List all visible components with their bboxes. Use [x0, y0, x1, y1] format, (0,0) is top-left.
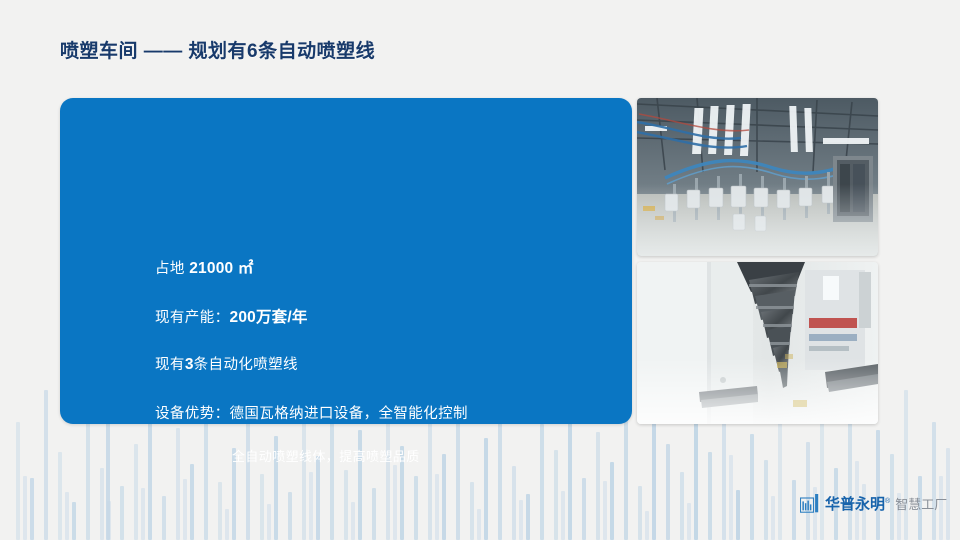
line-3-strong: 3 — [185, 356, 194, 373]
decorative-bar — [645, 511, 649, 540]
slide-root: 喷塑车间 —— 规划有6条自动喷塑线 占地 21000 ㎡ 现有产能：200万套… — [0, 0, 960, 540]
decorative-bar — [694, 418, 698, 540]
decorative-bar — [750, 434, 754, 540]
decorative-bar — [65, 492, 69, 540]
decorative-bar — [932, 422, 936, 540]
decorative-bar — [561, 491, 565, 540]
decorative-bar — [23, 476, 27, 540]
page-title: 喷塑车间 —— 规划有6条自动喷塑线 — [60, 36, 375, 63]
decorative-bar — [540, 424, 544, 540]
decorative-bar — [470, 482, 474, 540]
decorative-bar — [519, 500, 523, 540]
panel-line-capacity: 现有产能：200万套/年 — [155, 305, 308, 327]
decorative-bar — [498, 408, 502, 540]
decorative-bar — [778, 406, 782, 540]
panel-line-existing-lines: 现有3条自动化喷塑线 — [155, 353, 298, 374]
decorative-bar — [393, 465, 397, 540]
decorative-bar — [736, 490, 740, 540]
decorative-bar — [351, 502, 355, 540]
line-1-prefix: 占地 — [155, 261, 189, 277]
decorative-bar — [302, 416, 306, 540]
decorative-bar — [204, 406, 208, 540]
decorative-bar — [666, 444, 670, 540]
paint-line-closeup-illustration — [637, 262, 878, 424]
decorative-bar — [372, 488, 376, 540]
decorative-bar — [526, 494, 530, 540]
panel-line-area: 占地 21000 ㎡ — [155, 256, 254, 278]
decorative-bar — [904, 390, 908, 540]
decorative-bar — [134, 444, 138, 540]
decorative-bar — [610, 462, 614, 540]
decorative-bar — [414, 476, 418, 540]
decorative-bar — [16, 422, 20, 540]
decorative-bar — [764, 460, 768, 540]
decorative-bar — [596, 432, 600, 540]
panel-line-quality: 全自动喷塑线体，提高喷塑品质 — [232, 446, 420, 465]
decorative-bar — [442, 454, 446, 540]
decorative-bar — [582, 478, 586, 540]
decorative-bar — [603, 481, 607, 540]
paint-shop-overview-photo — [637, 98, 878, 256]
line-4-prefix: 设备优势：德国瓦格纳进口设备，全智能化控制 — [155, 406, 468, 422]
decorative-bar — [680, 472, 684, 540]
decorative-bar — [484, 438, 488, 540]
brand-subtitle: 智慧工厂 — [895, 496, 947, 513]
decorative-bar — [344, 470, 348, 540]
line-3-suffix: 条自动化喷塑线 — [194, 357, 298, 373]
line-5-prefix: 全自动喷塑线体，提高喷塑品质 — [232, 449, 420, 464]
decorative-bar — [771, 496, 775, 540]
decorative-bar — [72, 502, 76, 540]
content-panel-body: 占地 21000 ㎡ 现有产能：200万套/年 现有3条自动化喷塑线 设备优势：… — [60, 98, 632, 424]
decorative-bar — [792, 480, 796, 540]
decorative-bar — [316, 456, 320, 540]
line-1-strong: 21000 ㎡ — [189, 260, 253, 277]
decorative-bar — [30, 478, 34, 540]
decorative-bar — [225, 509, 229, 540]
trademark-symbol: ® — [885, 498, 890, 505]
brand-name: 华普永明® — [825, 493, 890, 513]
decorative-bar — [267, 504, 271, 540]
decorative-bar — [729, 455, 733, 540]
decorative-bar — [477, 509, 481, 540]
panel-line-equipment: 设备优势：德国瓦格纳进口设备，全智能化控制 — [155, 402, 468, 423]
decorative-bar — [428, 420, 432, 540]
decorative-bar — [638, 486, 642, 540]
decorative-bar — [86, 412, 90, 540]
paint-line-closeup-photo — [637, 262, 878, 424]
decorative-bar — [624, 412, 628, 540]
decorative-bar — [107, 501, 111, 540]
decorative-bar — [141, 488, 145, 540]
decorative-bar — [162, 496, 166, 540]
decorative-bar — [820, 412, 824, 540]
decorative-bar — [100, 468, 104, 540]
line-2-prefix: 现有产能： — [155, 310, 230, 326]
paint-shop-overview-illustration — [637, 98, 878, 256]
decorative-bar — [260, 474, 264, 540]
line-2-strong: 200万套/年 — [230, 309, 308, 326]
decorative-bar — [512, 466, 516, 540]
decorative-bar — [176, 428, 180, 540]
decorative-bar — [687, 503, 691, 540]
content-panel: 占地 21000 ㎡ 现有产能：200万套/年 现有3条自动化喷塑线 设备优势：… — [60, 98, 632, 424]
decorative-bar — [190, 464, 194, 540]
decorative-bar — [309, 472, 313, 540]
decorative-bar — [288, 492, 292, 540]
line-3-prefix: 现有 — [155, 357, 185, 373]
decorative-bar — [435, 474, 439, 540]
decorative-bar — [218, 482, 222, 540]
decorative-bar — [58, 452, 62, 540]
decorative-bar — [876, 430, 880, 540]
decorative-bar — [183, 479, 187, 540]
decorative-bar — [44, 390, 48, 540]
brand-logo: 华普永明® 智慧工厂 — [800, 491, 947, 513]
decorative-bar — [554, 450, 558, 540]
decorative-bar — [120, 486, 124, 540]
factory-icon — [800, 494, 820, 513]
decorative-bar — [708, 452, 712, 540]
brand-name-text: 华普永明 — [825, 496, 885, 513]
